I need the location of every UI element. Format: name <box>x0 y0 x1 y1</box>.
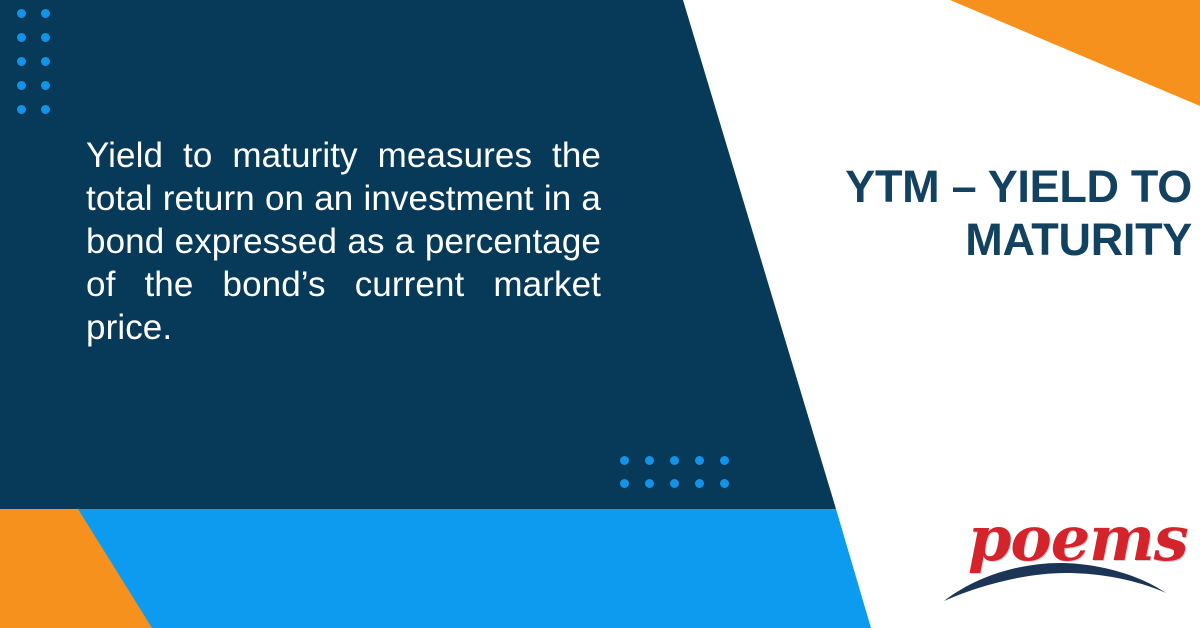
dot <box>645 456 654 465</box>
dot <box>17 81 26 90</box>
dot-grid-top-left <box>17 9 65 129</box>
dot <box>17 57 26 66</box>
dot <box>41 33 50 42</box>
definition-body-text: Yield to maturity measures the total ret… <box>86 134 601 392</box>
dot <box>720 456 729 465</box>
swoosh-icon <box>940 557 1170 607</box>
dot <box>17 9 26 18</box>
dot <box>695 456 704 465</box>
dot <box>41 81 50 90</box>
page-title: YTM – YIELD TO MATURITY <box>722 160 1192 266</box>
page-title-line-1: YTM – YIELD TO <box>845 161 1192 212</box>
dot <box>645 479 654 488</box>
dot <box>670 479 679 488</box>
dot <box>41 9 50 18</box>
dot <box>17 105 26 114</box>
dot <box>41 105 50 114</box>
dot <box>720 479 729 488</box>
dot <box>41 57 50 66</box>
dot-grid-bottom-center <box>620 456 745 502</box>
poems-logo: poems <box>940 505 1170 610</box>
dot <box>695 479 704 488</box>
page-title-line-2: MATURITY <box>965 214 1192 265</box>
dot <box>670 456 679 465</box>
dot <box>620 456 629 465</box>
dot <box>620 479 629 488</box>
dot <box>17 33 26 42</box>
infographic-card: Yield to maturity measures the total ret… <box>0 0 1200 628</box>
